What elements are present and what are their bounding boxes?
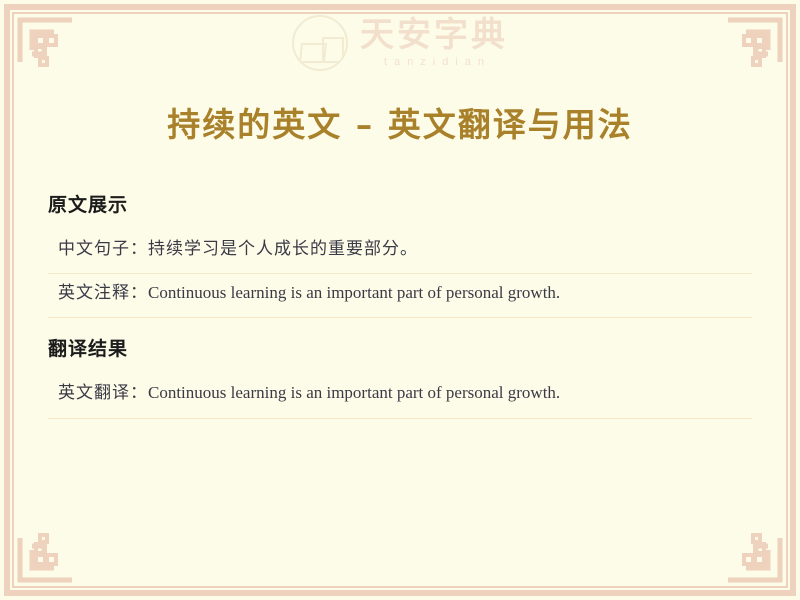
row-label-english-annotation: 英文注释：	[58, 283, 148, 303]
row-value-english-annotation: Continuous learning is an important part…	[148, 283, 560, 302]
document-page: 天安字典 tanzidian 持续的英文 – 英文翻译与用法 原文展示 中文句子…	[0, 0, 800, 600]
row-label-chinese-sentence: 中文句子：	[58, 239, 148, 259]
rows-original: 中文句子：持续学习是个人成长的重要部分。 英文注释：Continuous lea…	[48, 227, 752, 318]
section-translation-result: 翻译结果 英文翻译：Continuous learning is an impo…	[48, 318, 752, 418]
row-label-english-translation: 英文翻译：	[58, 383, 148, 403]
section-heading-original: 原文展示	[48, 190, 752, 217]
rows-translation: 英文翻译：Continuous learning is an important…	[48, 371, 752, 418]
row-english-annotation: 英文注释：Continuous learning is an important…	[48, 274, 752, 318]
section-original-text: 原文展示 中文句子：持续学习是个人成长的重要部分。 英文注释：Continuou…	[48, 146, 752, 318]
row-value-english-translation: Continuous learning is an important part…	[148, 383, 560, 402]
section-heading-translation: 翻译结果	[48, 334, 752, 361]
row-english-translation: 英文翻译：Continuous learning is an important…	[48, 371, 752, 418]
row-chinese-sentence: 中文句子：持续学习是个人成长的重要部分。	[48, 227, 752, 274]
page-title: 持续的英文 – 英文翻译与用法	[48, 84, 752, 146]
main-content: 持续的英文 – 英文翻译与用法 原文展示 中文句子：持续学习是个人成长的重要部分…	[0, 0, 800, 600]
row-value-chinese-sentence: 持续学习是个人成长的重要部分。	[148, 239, 418, 259]
